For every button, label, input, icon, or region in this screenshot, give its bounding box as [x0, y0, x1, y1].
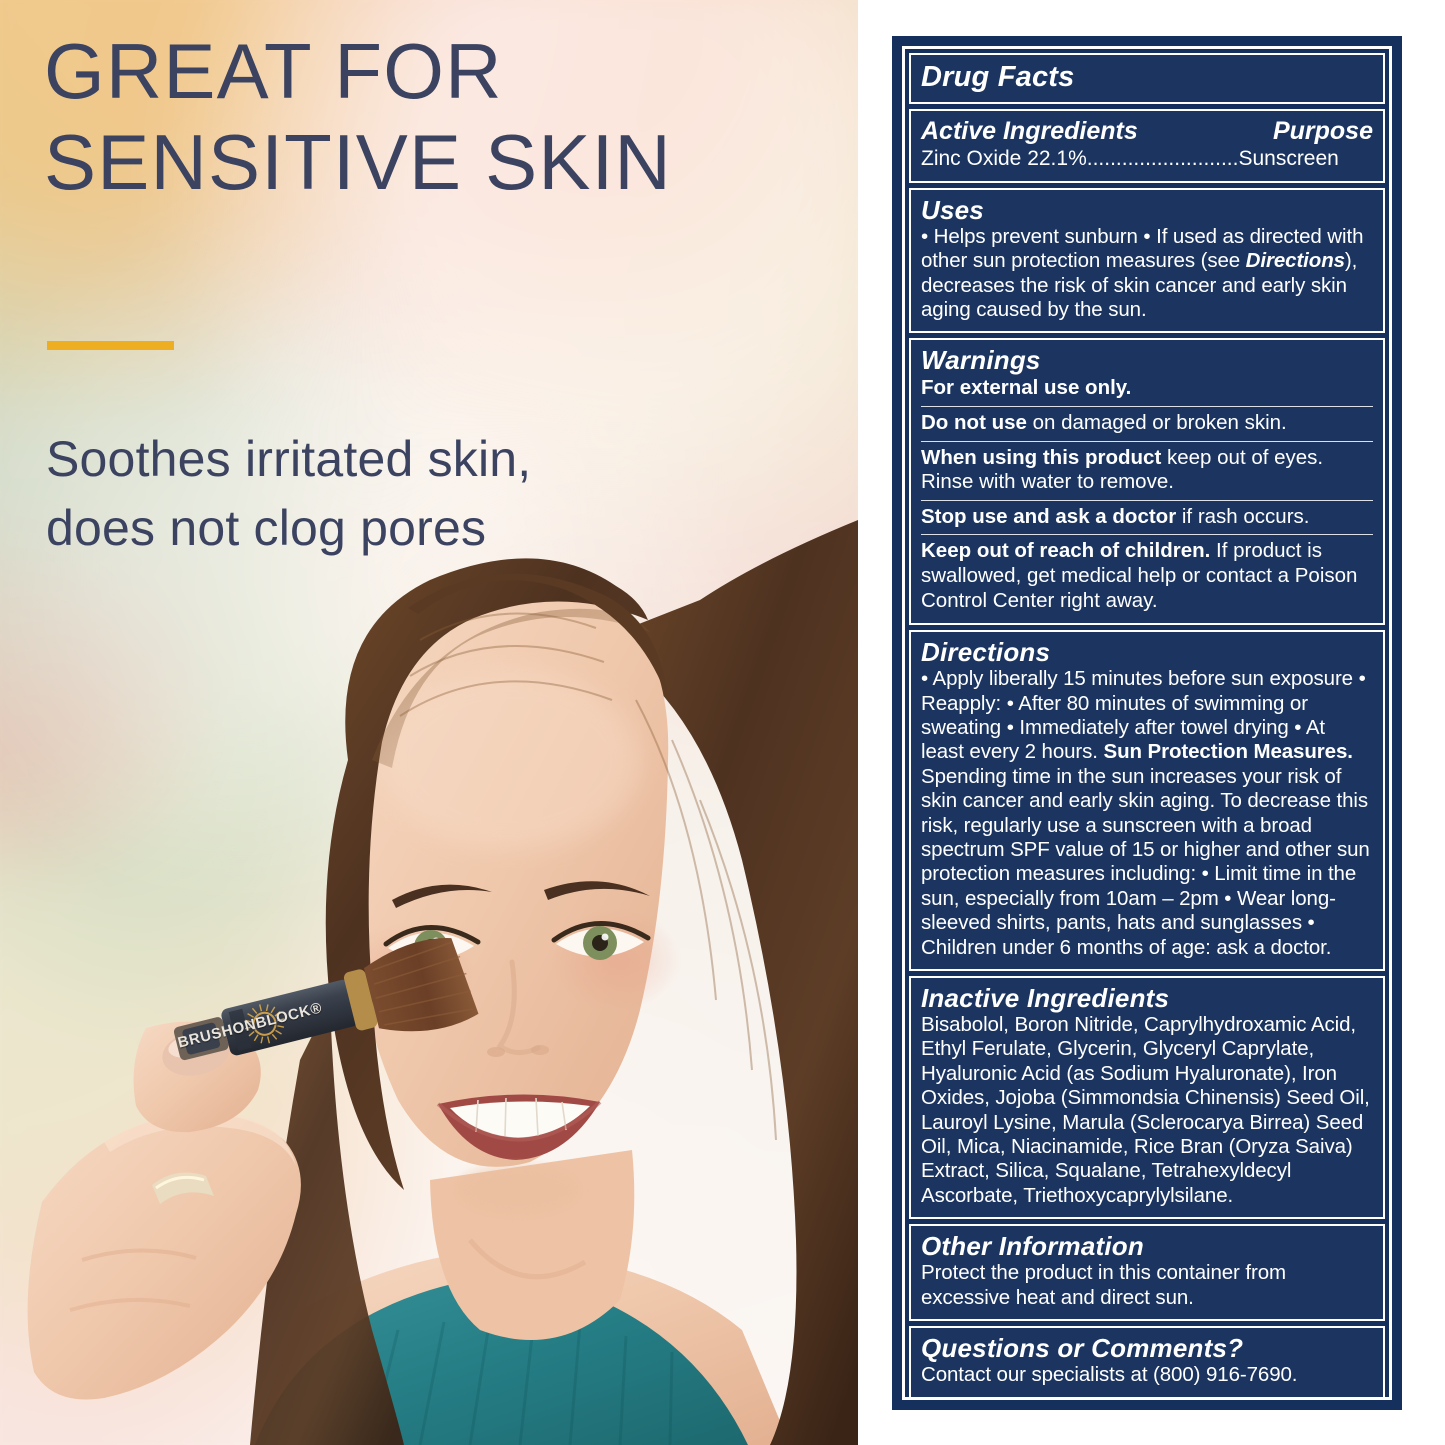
warning-item-rest: if rash occurs. — [1176, 505, 1309, 528]
warning-item: When using this product keep out of eyes… — [921, 442, 1373, 501]
warning-item-bold: When using this product — [921, 446, 1161, 469]
warning-item: Do not use on damaged or broken skin. — [921, 407, 1373, 442]
leader-dots: .......................... — [1087, 147, 1239, 170]
uses-box: Uses • Helps prevent sunburn • If used a… — [909, 188, 1385, 334]
directions-box: Directions • Apply liberally 15 minutes … — [909, 630, 1385, 971]
directions-body-post: Spending time in the sun increases your … — [921, 765, 1370, 959]
other-information-body: Protect the product in this container fr… — [921, 1261, 1373, 1310]
hand-holding-product — [28, 1022, 301, 1400]
active-ingredient-row: Zinc Oxide 22.1%........................… — [921, 146, 1373, 171]
warning-item: For external use only. — [921, 375, 1373, 407]
headline-line-2: SENSITIVE SKIN — [44, 117, 834, 208]
active-ingredients-heading: Active Ingredients — [921, 117, 1138, 146]
directions-heading: Directions — [921, 638, 1373, 667]
directions-body: • Apply liberally 15 minutes before sun … — [921, 667, 1373, 960]
ad-canvas: BRUSHONBLOCK® GREAT FOR SENSITIVE SKIN S… — [0, 0, 1445, 1445]
inactive-ingredients-heading: Inactive Ingredients — [921, 984, 1373, 1013]
other-information-heading: Other Information — [921, 1232, 1373, 1261]
gold-accent-rule — [47, 341, 174, 350]
warnings-heading: Warnings — [921, 346, 1373, 375]
other-information-box: Other Information Protect the product in… — [909, 1224, 1385, 1321]
product-photo-panel: BRUSHONBLOCK® GREAT FOR SENSITIVE SKIN S… — [0, 0, 858, 1445]
uses-heading: Uses — [921, 196, 1373, 225]
purpose-heading: Purpose — [1273, 117, 1373, 146]
warning-item-bold: Keep out of reach of children. — [921, 539, 1210, 562]
drug-facts-title-box: Drug Facts — [909, 53, 1385, 104]
warning-item: Keep out of reach of children. If produc… — [921, 535, 1373, 614]
active-ingredient-purpose: Sunscreen — [1238, 147, 1338, 170]
warning-item-rest: on damaged or broken skin. — [1027, 411, 1287, 434]
questions-box: Questions or Comments? Contact our speci… — [909, 1326, 1385, 1399]
subheadline-line-1: Soothes irritated skin, — [46, 431, 531, 487]
warning-item-bold: For external use only. — [921, 376, 1131, 399]
subheadline: Soothes irritated skin, does not clog po… — [46, 425, 786, 563]
headline-block: GREAT FOR SENSITIVE SKIN — [44, 26, 834, 209]
drug-facts-title: Drug Facts — [921, 61, 1373, 93]
drug-facts-panel: Drug Facts Active Ingredients Purpose Zi… — [892, 36, 1402, 1410]
headline: GREAT FOR SENSITIVE SKIN — [44, 26, 834, 209]
subheadline-line-2: does not clog pores — [46, 494, 786, 563]
active-ingredients-box: Active Ingredients Purpose Zinc Oxide 22… — [909, 109, 1385, 182]
warning-item-bold: Do not use — [921, 411, 1027, 434]
warnings-box: Warnings For external use only. Do not u… — [909, 338, 1385, 625]
headline-line-1: GREAT FOR — [44, 27, 503, 115]
active-ingredients-header-row: Active Ingredients Purpose — [921, 117, 1373, 146]
sun-protection-measures-label: Sun Protection Measures. — [1104, 740, 1353, 763]
inactive-ingredients-box: Inactive Ingredients Bisabolol, Boron Ni… — [909, 976, 1385, 1219]
warning-item: Stop use and ask a doctor if rash occurs… — [921, 501, 1373, 536]
uses-body: • Helps prevent sunburn • If used as dir… — [921, 225, 1373, 323]
inactive-ingredients-body: Bisabolol, Boron Nitride, Caprylhydroxam… — [921, 1013, 1373, 1208]
warning-item-bold: Stop use and ask a doctor — [921, 505, 1176, 528]
questions-heading: Questions or Comments? — [921, 1334, 1373, 1363]
uses-directions-ref: Directions — [1246, 249, 1345, 272]
questions-body: Contact our specialists at (800) 916-769… — [921, 1363, 1373, 1387]
drug-facts-inner-frame: Drug Facts Active Ingredients Purpose Zi… — [902, 46, 1392, 1400]
model-photo — [0, 0, 858, 1445]
active-ingredient-value: Zinc Oxide 22.1% — [921, 147, 1087, 170]
